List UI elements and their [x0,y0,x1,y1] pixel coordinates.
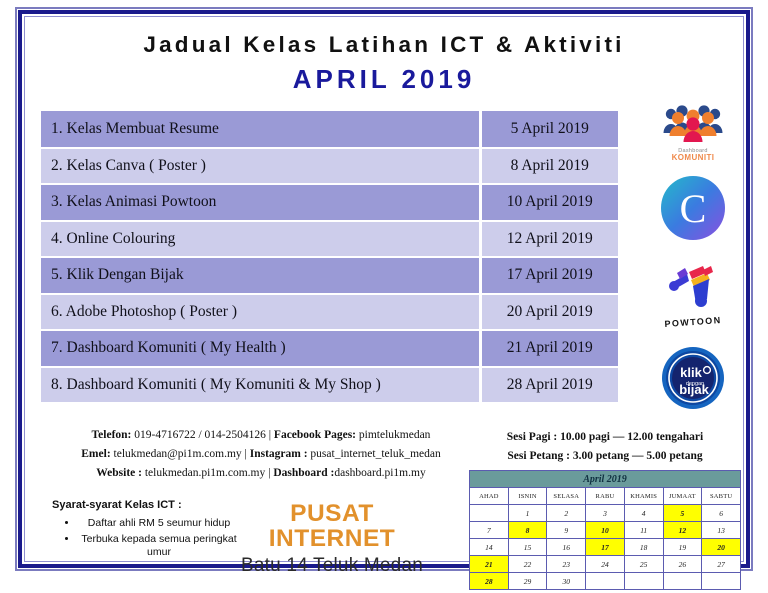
partner-logos-column: Dashboard KOMUNITI C [634,102,752,414]
canva-logo: C [634,174,752,247]
instagram-label: Instagram : [250,448,308,460]
session-times-block: Sesi Pagi : 10.00 pagi — 12.00 tengahari… [474,428,736,466]
calendar-day-empty [586,573,625,590]
canva-icon: C [659,174,727,242]
class-date-cell: 12 April 2019 [480,221,618,258]
table-row: 2. Kelas Canva ( Poster )8 April 2019 [41,148,618,185]
terms-heading: Syarat-syarat Kelas ICT : [52,499,182,511]
komuniti-caption-bottom: KOMUNITI [634,154,752,163]
class-date-cell: 17 April 2019 [480,257,618,294]
calendar-day-27: 27 [702,556,741,573]
calendar-day-28: 28 [470,573,509,590]
calendar-day-8: 8 [508,522,547,539]
class-date-cell: 28 April 2019 [480,367,618,404]
table-row: 1. Kelas Membuat Resume5 April 2019 [41,111,618,148]
website-label: Website : [96,467,142,479]
class-name-cell: 2. Kelas Canva ( Poster ) [41,148,480,185]
class-name-cell: 3. Kelas Animasi Powtoon [41,184,480,221]
calendar-day-empty [470,505,509,522]
calendar-day-5: 5 [663,505,702,522]
calendar-title: April 2019 [470,471,741,488]
table-row: 5. Klik Dengan Bijak17 April 2019 [41,257,618,294]
klik-bijak-icon: klik dengan bijak [661,346,725,410]
calendar-week-row: 14151617181920 [470,539,741,556]
calendar-day-14: 14 [470,539,509,556]
calendar-dow-jumaat: JUMAAT [663,488,702,505]
contact-line-email: Emel: telukmedan@pi1m.com.my | Instagram… [46,445,476,464]
pusat-internet-logo: PUSAT INTERNET Batu 14 Teluk Medan [232,502,432,575]
powtoon-wordmark: POWTOON [634,313,752,331]
calendar-day-16: 16 [547,539,586,556]
calendar-day-30: 30 [547,573,586,590]
facebook-value: pimtelukmedan [356,429,430,441]
terms-list: Daftar ahli RM 5 seumur hidupTerbuka kep… [60,517,240,562]
dashboard-value: dashboard.pi1m.my [334,467,425,479]
dashboard-komuniti-logo: Dashboard KOMUNITI [634,102,752,163]
calendar-day-23: 23 [547,556,586,573]
calendar-day-22: 22 [508,556,547,573]
table-row: 3. Kelas Animasi Powtoon10 April 2019 [41,184,618,221]
calendar-day-12: 12 [663,522,702,539]
page-subtitle-month: APRIL 2019 [22,64,746,95]
calendar-day-19: 19 [663,539,702,556]
list-item: Daftar ahli RM 5 seumur hidup [78,517,240,531]
calendar-title-row: April 2019 [470,471,741,488]
contact-line-website: Website : telukmedan.pi1m.com.my | Dashb… [46,464,476,483]
calendar-day-9: 9 [547,522,586,539]
calendar-day-7: 7 [470,522,509,539]
calendar-day-15: 15 [508,539,547,556]
page-title: Jadual Kelas Latihan ICT & Aktiviti [22,32,746,58]
calendar-day-25: 25 [624,556,663,573]
session-afternoon: Sesi Petang : 3.00 petang — 5.00 petang [474,447,736,466]
calendar-day-20: 20 [702,539,741,556]
poster-canvas: Jadual Kelas Latihan ICT & Aktiviti APRI… [18,10,750,568]
schedule-body: 1. Kelas Membuat Resume5 April 20192. Ke… [41,111,618,403]
facebook-label: Facebook Pages: [274,429,356,441]
calendar-dow-khamis: KHAMIS [624,488,663,505]
calendar-dow-selasa: SELASA [547,488,586,505]
table-row: 7. Dashboard Komuniti ( My Health )21 Ap… [41,330,618,367]
telefon-label: Telefon: [92,429,132,441]
class-name-cell: 1. Kelas Membuat Resume [41,111,480,148]
class-name-cell: 6. Adobe Photoshop ( Poster ) [41,294,480,331]
calendar-body: 1234567891011121314151617181920212223242… [470,505,741,590]
calendar-day-21: 21 [470,556,509,573]
calendar-day-empty [702,573,741,590]
calendar-dow-isnin: ISNIN [508,488,547,505]
calendar-day-empty [663,573,702,590]
calendar-day-1: 1 [508,505,547,522]
calendar-day-26: 26 [663,556,702,573]
session-morning: Sesi Pagi : 10.00 pagi — 12.00 tengahari [474,428,736,447]
calendar-day-6: 6 [702,505,741,522]
pusat-internet-subtitle: Batu 14 Teluk Medan [232,556,432,575]
calendar-dow-ahad: AHAD [470,488,509,505]
instagram-value: pusat_internet_teluk_medan [308,448,441,460]
klik-dengan-bijak-logo: klik dengan bijak [634,346,752,415]
calendar-day-17: 17 [586,539,625,556]
calendar-week-row: 123456 [470,505,741,522]
calendar-day-29: 29 [508,573,547,590]
canva-letter: C [680,186,707,231]
powtoon-icon [663,262,723,310]
calendar-day-11: 11 [624,522,663,539]
dashboard-label: Dashboard : [273,467,334,479]
table-row: 6. Adobe Photoshop ( Poster )20 April 20… [41,294,618,331]
pusat-internet-title: PUSAT INTERNET [232,502,432,551]
contact-info-block: Telefon: 019-4716722 / 014-2504126 | Fac… [46,426,476,483]
table-row: 8. Dashboard Komuniti ( My Komuniti & My… [41,367,618,404]
calendar-day-empty [624,573,663,590]
calendar-week-row: 21222324252627 [470,556,741,573]
class-date-cell: 8 April 2019 [480,148,618,185]
calendar-day-3: 3 [586,505,625,522]
table-row: 4. Online Colouring12 April 2019 [41,221,618,258]
class-date-cell: 5 April 2019 [480,111,618,148]
calendar-day-10: 10 [586,522,625,539]
class-name-cell: 4. Online Colouring [41,221,480,258]
people-group-icon [662,102,724,142]
emel-value: telukmedan@pi1m.com.my | [111,448,250,460]
class-name-cell: 8. Dashboard Komuniti ( My Komuniti & My… [41,367,480,404]
contact-line-phone: Telefon: 019-4716722 / 014-2504126 | Fac… [46,426,476,445]
website-value: telukmedan.pi1m.com.my | [142,467,273,479]
class-schedule-table: 1. Kelas Membuat Resume5 April 20192. Ke… [41,111,618,404]
class-name-cell: 7. Dashboard Komuniti ( My Health ) [41,330,480,367]
klik-word: klik [680,365,702,380]
class-date-cell: 10 April 2019 [480,184,618,221]
class-name-cell: 5. Klik Dengan Bijak [41,257,480,294]
list-item: Terbuka kepada semua peringkat umur [78,533,240,560]
calendar-day-24: 24 [586,556,625,573]
calendar-head: April 2019AHADISNINSELASARABUKHAMISJUMAA… [470,471,741,505]
calendar-day-4: 4 [624,505,663,522]
april-calendar: April 2019AHADISNINSELASARABUKHAMISJUMAA… [469,470,741,590]
calendar-dow-rabu: RABU [586,488,625,505]
calendar-day-18: 18 [624,539,663,556]
class-date-cell: 20 April 2019 [480,294,618,331]
calendar-week-row: 282930 [470,573,741,590]
class-date-cell: 21 April 2019 [480,330,618,367]
calendar-dow-sabtu: SABTU [702,488,741,505]
calendar-dow-row: AHADISNINSELASARABUKHAMISJUMAATSABTU [470,488,741,505]
powtoon-logo: POWTOON [634,262,752,327]
bijak-word: bijak [679,382,709,397]
emel-label: Emel: [81,448,110,460]
calendar-week-row: 78910111213 [470,522,741,539]
telefon-value: 019-4716722 / 014-2504126 | [131,429,274,441]
calendar-day-13: 13 [702,522,741,539]
calendar-day-2: 2 [547,505,586,522]
